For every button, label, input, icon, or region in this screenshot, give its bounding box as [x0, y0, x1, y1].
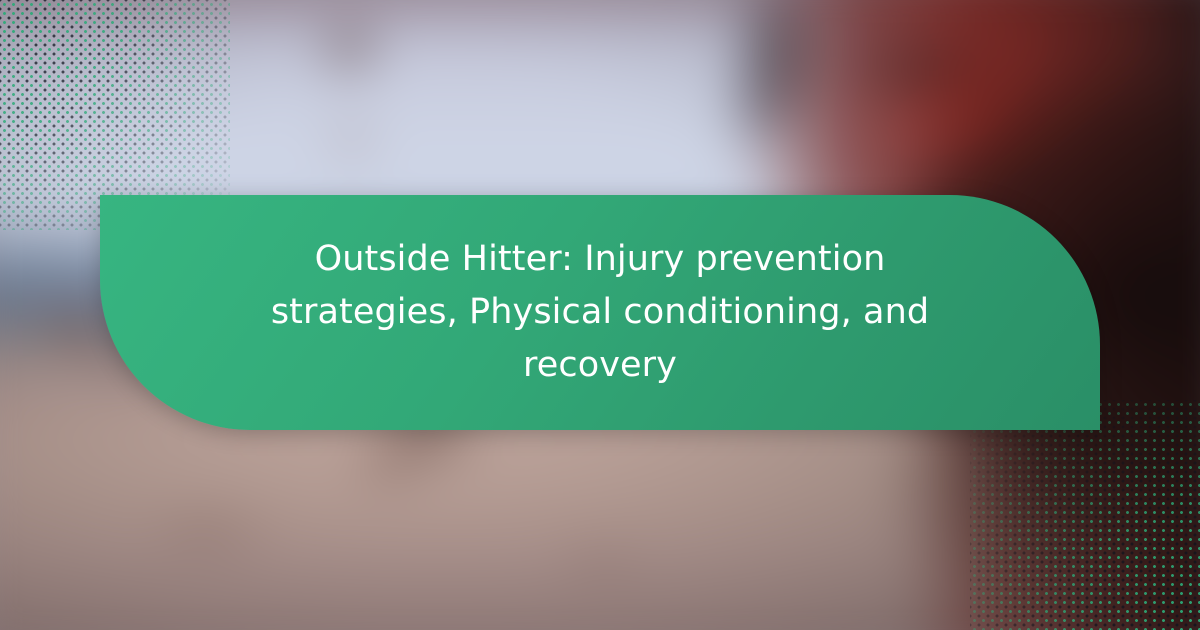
title-card: Outside Hitter: Injury prevention strate… — [100, 195, 1100, 430]
page-title: Outside Hitter: Injury prevention strate… — [205, 233, 995, 393]
halftone-dots-bottom-right-decoration — [970, 400, 1200, 630]
